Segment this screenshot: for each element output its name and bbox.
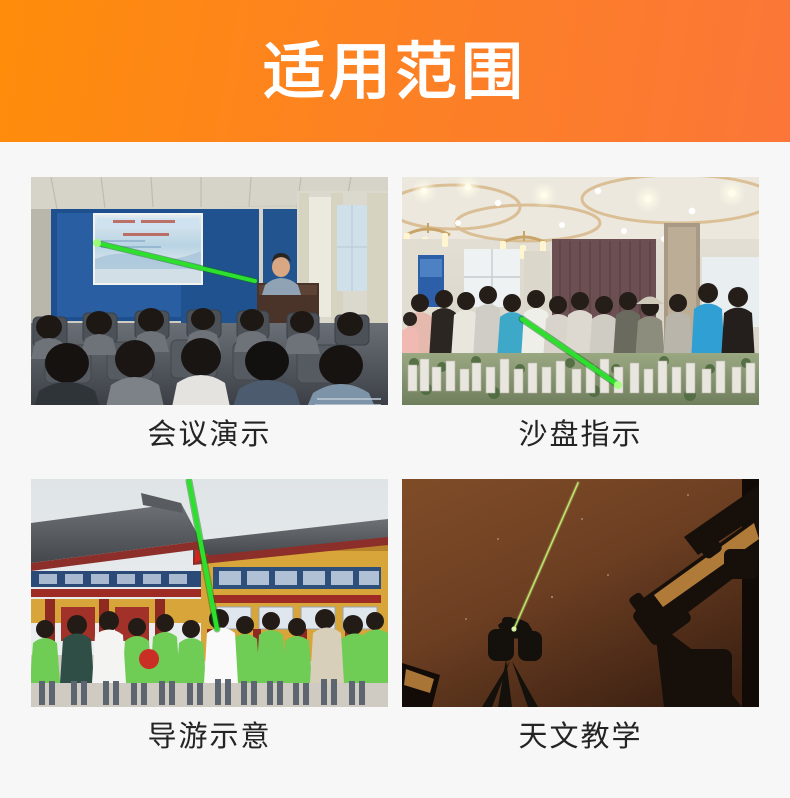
page-title: 适用范围 [263, 42, 527, 104]
scenario-photo-tour-guide [31, 479, 388, 707]
temple-tour-illustration [31, 479, 388, 707]
scenario-caption: 沙盘指示 [402, 405, 759, 465]
scenario-card-conference: 会议演示 [31, 177, 388, 465]
scenario-caption: 天文教学 [402, 707, 759, 767]
scenario-grid: 会议演示 [31, 177, 759, 767]
sand-table-illustration [402, 177, 759, 405]
scenario-photo-astronomy [402, 479, 759, 707]
scenario-card-sand-table: 沙盘指示 [402, 177, 759, 465]
scenario-caption: 导游示意 [31, 707, 388, 767]
scenario-card-tour-guide: 导游示意 [31, 479, 388, 767]
scenario-card-astronomy: 天文教学 [402, 479, 759, 767]
scenario-caption: 会议演示 [31, 405, 388, 465]
section-banner: 适用范围 [0, 0, 790, 142]
astronomy-illustration [402, 479, 759, 707]
conference-room-illustration [31, 177, 388, 405]
scenario-photo-sand-table [402, 177, 759, 405]
scenario-photo-conference [31, 177, 388, 405]
applications-page: 适用范围 [0, 0, 790, 798]
